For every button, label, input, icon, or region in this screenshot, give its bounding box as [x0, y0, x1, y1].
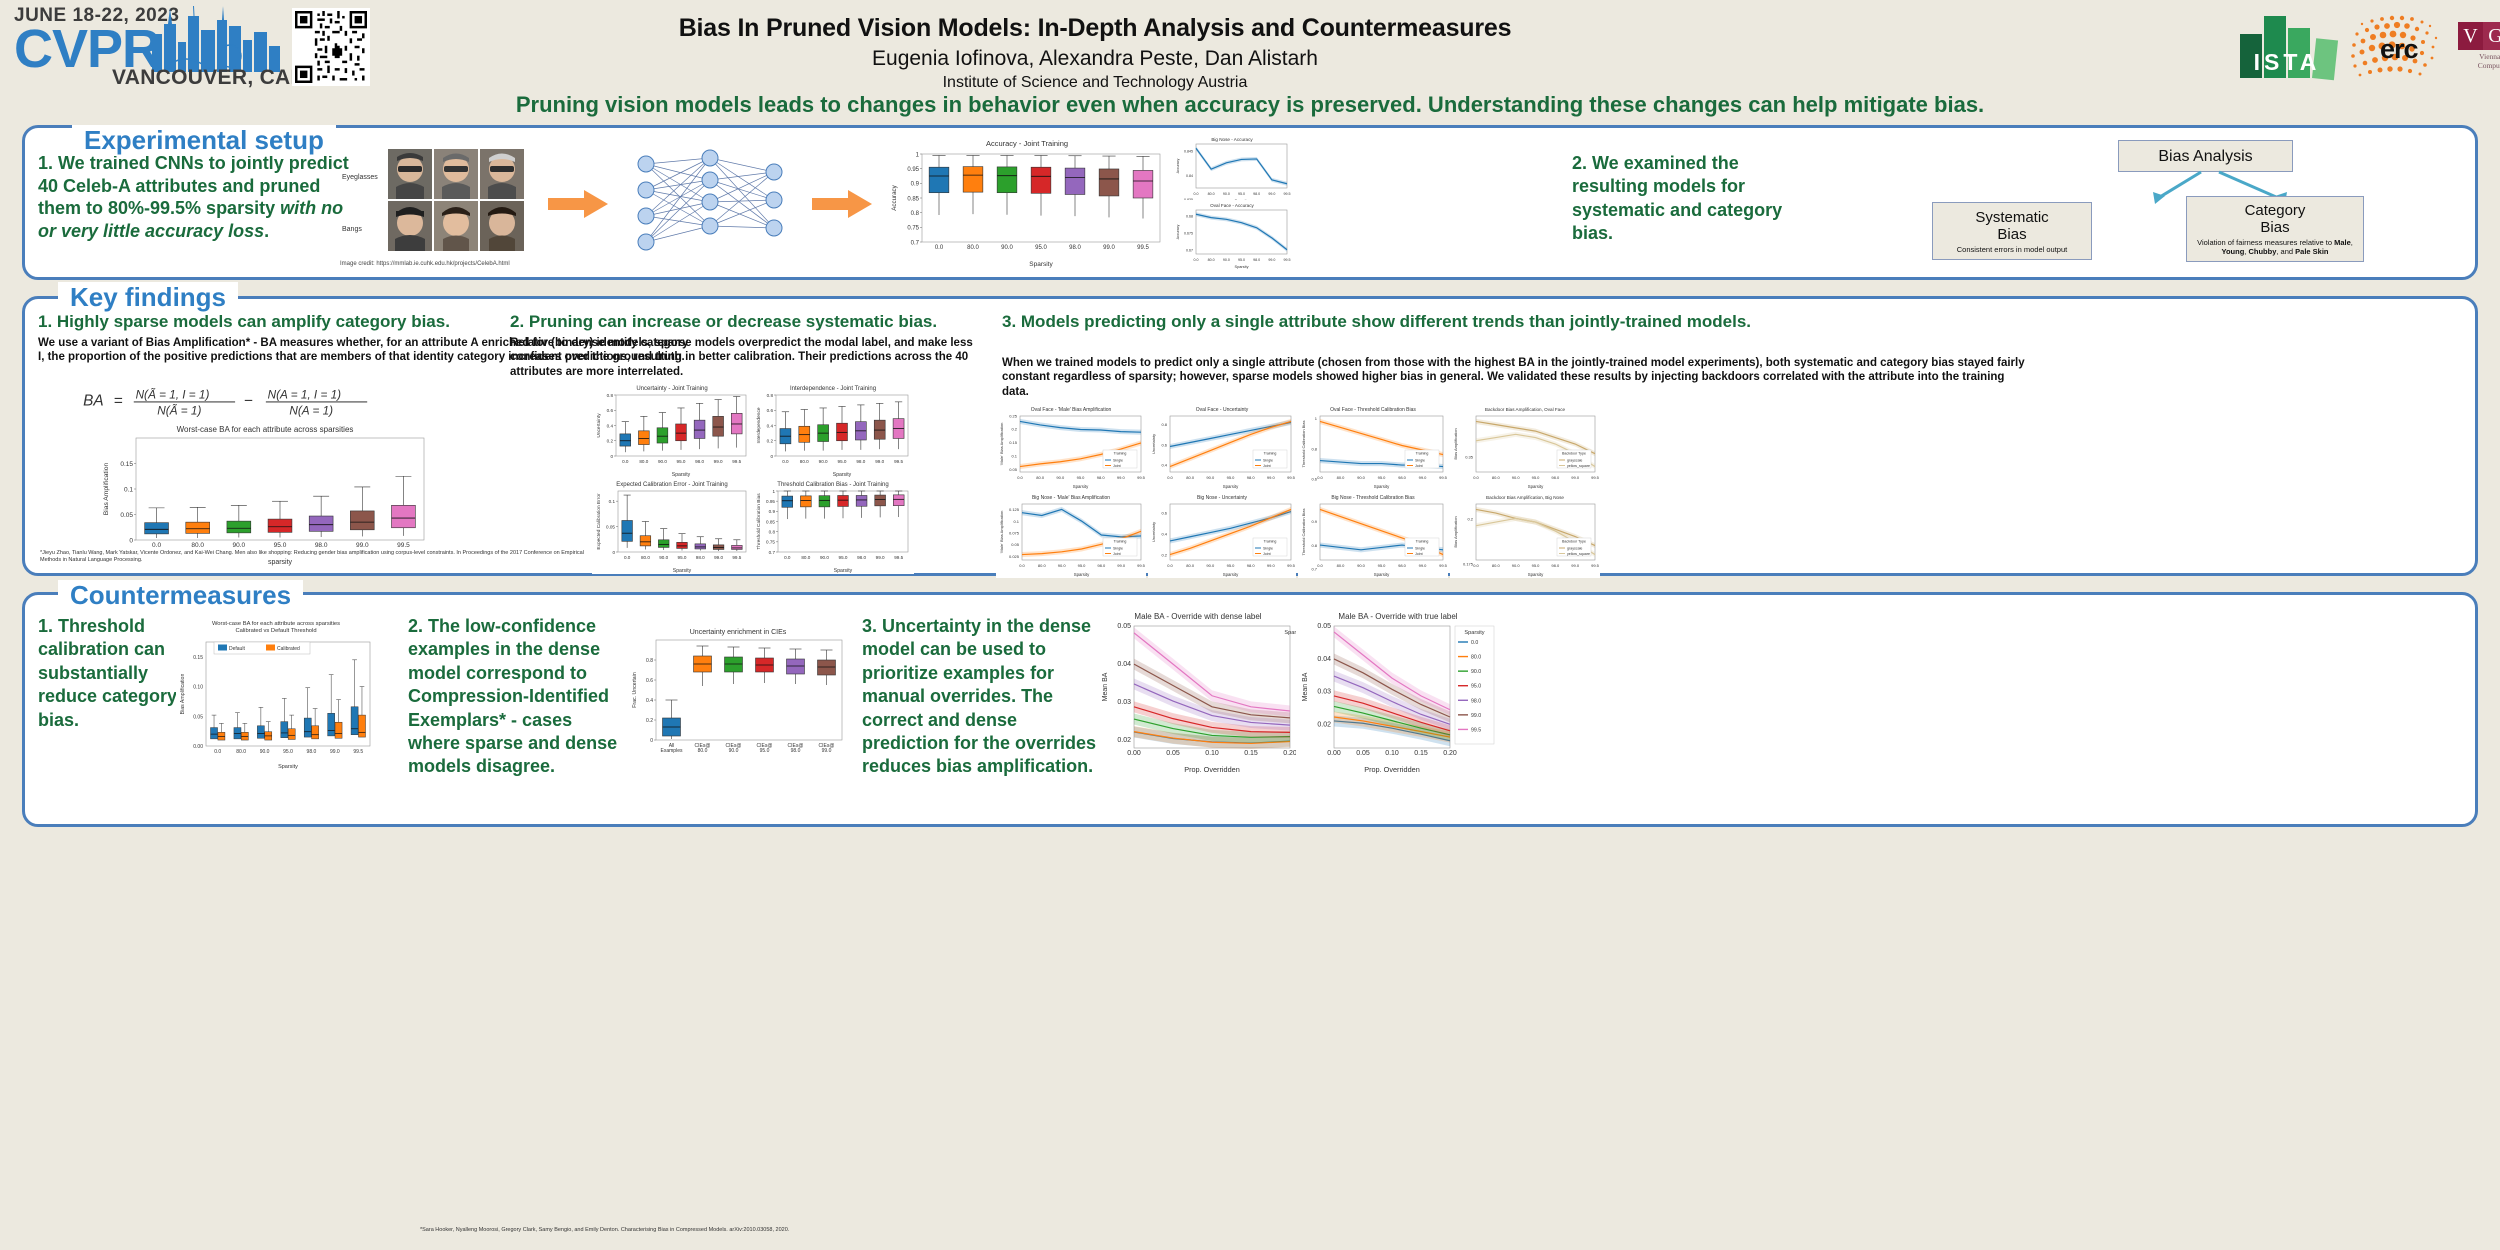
- svg-text:Backdoor Type: Backdoor Type: [1562, 452, 1586, 456]
- svg-text:99.5: 99.5: [1591, 475, 1600, 480]
- svg-text:95.0: 95.0: [1078, 563, 1087, 568]
- svg-text:0.15: 0.15: [193, 655, 203, 661]
- celeba-sample-images: Eyeglasses Bangs: [340, 145, 540, 260]
- qr-code[interactable]: [292, 8, 370, 86]
- svg-text:99.5: 99.5: [894, 555, 903, 560]
- svg-text:Male BA - Override with true l: Male BA - Override with true label: [1338, 612, 1457, 621]
- svg-text:0: 0: [650, 738, 653, 744]
- chart-tcb-joint: Threshold Calibration Bias - Joint Train…: [752, 478, 914, 574]
- svg-text:N(A = 1, I = 1): N(A = 1, I = 1): [268, 388, 341, 401]
- svg-text:0.0: 0.0: [214, 749, 221, 755]
- svg-text:0.6: 0.6: [767, 408, 774, 413]
- svg-text:Big Nose - Uncertainty: Big Nose - Uncertainty: [1197, 495, 1248, 501]
- svg-text:0.4: 0.4: [1161, 531, 1167, 536]
- svg-text:90.0: 90.0: [659, 555, 668, 560]
- title-block: Bias In Pruned Vision Models: In-Depth A…: [400, 14, 1790, 92]
- svg-text:95.0: 95.0: [274, 542, 287, 549]
- svg-text:98.0: 98.0: [1551, 563, 1560, 568]
- svg-text:99.0: 99.0: [1419, 563, 1428, 568]
- svg-text:80.0: 80.0: [639, 459, 648, 464]
- svg-text:Accuracy - Joint Training: Accuracy - Joint Training: [986, 139, 1068, 148]
- svg-text:0.125: 0.125: [1009, 507, 1020, 512]
- systematic-bias-sub: Consistent errors in model output: [1933, 245, 2091, 254]
- svg-text:Expected Calibration Error: Expected Calibration Error: [596, 493, 602, 550]
- svg-text:0.1: 0.1: [124, 487, 133, 494]
- cat-sub-male: Male: [2334, 238, 2351, 247]
- svg-text:Bias Amplification: Bias Amplification: [103, 463, 110, 516]
- svg-text:Sparsity: Sparsity: [278, 764, 298, 770]
- svg-text:0.6: 0.6: [1161, 510, 1167, 515]
- svg-text:90.0: 90.0: [819, 459, 828, 464]
- svg-text:98.0: 98.0: [1069, 245, 1081, 251]
- svg-text:99.5: 99.5: [1137, 475, 1146, 480]
- svg-text:0.675: 0.675: [1184, 232, 1193, 236]
- svg-text:0.7: 0.7: [769, 550, 776, 555]
- svg-text:99.0: 99.0: [356, 542, 369, 549]
- svg-text:0.8: 0.8: [1311, 543, 1317, 548]
- vancouver-skyline-icon: [150, 4, 282, 72]
- svg-text:80.0: 80.0: [191, 542, 204, 549]
- chart-bignose-uncertainty: Big Nose - Uncertainty0.20.40.60.080.090…: [1148, 492, 1296, 578]
- svg-text:Expected Calibration Error - J: Expected Calibration Error - Joint Train…: [616, 482, 727, 488]
- section-title-key-findings: Key findings: [58, 282, 238, 313]
- ista-label: ISTA: [2240, 49, 2334, 76]
- svg-text:Training: Training: [1264, 452, 1277, 456]
- svg-text:0.8: 0.8: [646, 658, 653, 664]
- finding-3-heading: 3. Models predicting only a single attri…: [1002, 312, 2022, 332]
- svg-text:Oval Face - Threshold Calibrat: Oval Face - Threshold Calibration Bias: [1330, 407, 1416, 413]
- svg-text:Sparsity: Sparsity: [1073, 484, 1089, 489]
- setup-item-1: 1. We trained CNNs to jointly predict 40…: [38, 152, 358, 242]
- svg-text:Backdoor Bias Amplification, B: Backdoor Bias Amplification, Big Nose: [1486, 495, 1564, 500]
- svg-text:Bias Amplification: Bias Amplification: [1453, 428, 1458, 459]
- svg-text:95.0: 95.0: [1077, 475, 1086, 480]
- svg-text:0.20: 0.20: [1443, 750, 1457, 757]
- finding-1-footnote: *Jieyu Zhao, Tianlu Wang, Mark Yatskar, …: [40, 550, 600, 564]
- svg-text:Accuracy: Accuracy: [891, 184, 898, 210]
- svg-text:95.0: 95.0: [283, 749, 293, 755]
- setup-item-1-period: .: [264, 221, 269, 241]
- svg-text:0.15: 0.15: [1414, 750, 1428, 757]
- svg-text:0.95: 0.95: [907, 167, 919, 173]
- svg-text:0.0: 0.0: [624, 555, 631, 560]
- svg-text:0.0: 0.0: [782, 459, 789, 464]
- svg-text:90.0: 90.0: [1206, 563, 1215, 568]
- svg-text:0.6: 0.6: [1161, 442, 1167, 447]
- finding-2-heading: 2. Pruning can increase or decrease syst…: [510, 312, 1010, 332]
- bias-analysis-label: Bias Analysis: [2119, 141, 2292, 173]
- svg-text:Sparsity: Sparsity: [1374, 572, 1390, 577]
- chart-ece-joint: Expected Calibration Error - Joint Train…: [592, 478, 752, 574]
- svg-text:Uncertainty: Uncertainty: [1151, 434, 1156, 454]
- svg-text:Single: Single: [1263, 459, 1273, 463]
- svg-text:0.67: 0.67: [1186, 249, 1193, 253]
- vgsco-logo: V G S C O Vienna Graduate School on Comp…: [2458, 22, 2500, 71]
- svg-text:Sparsity: Sparsity: [673, 568, 692, 574]
- svg-text:0.02: 0.02: [1317, 722, 1331, 729]
- svg-text:Interdependence - Joint Traini: Interdependence - Joint Training: [790, 386, 876, 392]
- svg-text:0.0: 0.0: [935, 245, 944, 251]
- erc-logo: erc: [2350, 14, 2460, 80]
- svg-text:0.05: 0.05: [120, 512, 133, 519]
- arrow-right-icon-2: [812, 190, 874, 220]
- svg-text:0.175: 0.175: [1463, 561, 1474, 566]
- svg-text:80.0: 80.0: [1208, 192, 1215, 196]
- svg-text:0.05: 0.05: [606, 524, 615, 529]
- svg-text:N(Ã = 1): N(Ã = 1): [157, 405, 201, 418]
- svg-text:90.0: 90.0: [1512, 563, 1521, 568]
- svg-text:98.0: 98.0: [1398, 563, 1407, 568]
- svg-text:Big Nose - 'Male' Bias Amplifi: Big Nose - 'Male' Bias Amplification: [1032, 495, 1110, 501]
- svg-text:Joint: Joint: [1415, 464, 1423, 468]
- chart-interdependence-joint: Interdependence - Joint Training00.20.40…: [752, 382, 914, 478]
- svg-text:Worst-case BA for each attribu: Worst-case BA for each attribute across …: [212, 621, 340, 627]
- svg-text:Sparsity: Sparsity: [1029, 261, 1053, 268]
- poster-header: JUNE 18-22, 2023 CVPR VANCOUVER, CANADA: [0, 0, 2500, 95]
- chart-ovalface-male-ba: Oval Face - 'Male' Bias Amplification0.0…: [996, 404, 1146, 490]
- chart-ovalface-tcb: Oval Face - Threshold Calibration Bias0.…: [1298, 404, 1448, 490]
- svg-text:0.02: 0.02: [1117, 737, 1131, 744]
- svg-text:1: 1: [916, 152, 920, 158]
- svg-text:0.025: 0.025: [1009, 554, 1020, 559]
- svg-text:90.0: 90.0: [820, 555, 829, 560]
- svg-text:N(A = 1): N(A = 1): [289, 405, 333, 418]
- svg-text:0.84: 0.84: [1186, 174, 1193, 178]
- svg-text:0.0: 0.0: [1317, 563, 1323, 568]
- svg-text:90.0: 90.0: [658, 459, 667, 464]
- finding-3-body: When we trained models to predict only a…: [1002, 356, 2032, 399]
- svg-text:99.5: 99.5: [1471, 727, 1481, 733]
- svg-text:99.5: 99.5: [1137, 245, 1149, 251]
- svg-text:0.8: 0.8: [1311, 446, 1317, 451]
- svg-text:Frac. Uncertain: Frac. Uncertain: [632, 672, 638, 708]
- svg-text:99.0: 99.0: [1419, 475, 1428, 480]
- svg-text:0.05: 0.05: [193, 714, 203, 720]
- svg-text:Sparsity: Sparsity: [1528, 572, 1544, 577]
- svg-text:90.0: 90.0: [1223, 192, 1230, 196]
- svg-text:95.0: 95.0: [1238, 192, 1245, 196]
- svg-text:Joint: Joint: [1263, 552, 1271, 556]
- svg-text:95.0: 95.0: [760, 748, 770, 754]
- authors: Eugenia Iofinova, Alexandra Peste, Dan A…: [400, 47, 1790, 71]
- svg-text:Single: Single: [1415, 459, 1425, 463]
- chart-bignose-accuracy: Big Nose - Accuracy0.8350.840.8450.080.0…: [1172, 134, 1292, 204]
- chart-bignose-tcb: Big Nose - Threshold Calibration Bias0.7…: [1298, 492, 1448, 578]
- svg-text:0.8: 0.8: [607, 393, 614, 398]
- svg-text:Prop. Overridden: Prop. Overridden: [1364, 765, 1420, 774]
- svg-text:Sparsity: Sparsity: [1374, 484, 1390, 489]
- svg-text:0.05: 0.05: [1009, 467, 1018, 472]
- svg-text:90.0: 90.0: [1001, 245, 1013, 251]
- svg-text:Uncertainty: Uncertainty: [1151, 522, 1156, 542]
- svg-text:Mean BA: Mean BA: [1302, 672, 1309, 701]
- category-bias-title2: Bias: [2187, 219, 2363, 236]
- svg-text:0.0: 0.0: [1473, 475, 1479, 480]
- svg-text:0.0: 0.0: [1017, 475, 1023, 480]
- affiliation: Institute of Science and Technology Aust…: [400, 74, 1790, 92]
- svg-text:98.0: 98.0: [1097, 563, 1106, 568]
- svg-text:95.0: 95.0: [1227, 563, 1236, 568]
- svg-text:0.75: 0.75: [907, 226, 919, 232]
- svg-text:0.00: 0.00: [1327, 750, 1341, 757]
- face-row-label-eyeglasses: Eyeglasses: [342, 174, 378, 181]
- svg-text:99.0: 99.0: [1103, 245, 1115, 251]
- svg-text:0.0: 0.0: [1194, 192, 1199, 196]
- svg-text:98.0: 98.0: [1471, 698, 1481, 704]
- svg-text:90.0: 90.0: [1058, 563, 1067, 568]
- svg-text:80.0: 80.0: [801, 555, 810, 560]
- svg-text:Uncertainty: Uncertainty: [596, 413, 602, 438]
- svg-text:yellow_square: yellow_square: [1567, 464, 1590, 468]
- systematic-bias-title2: Bias: [1933, 226, 2091, 243]
- svg-text:0.10: 0.10: [193, 685, 203, 691]
- svg-text:0.8: 0.8: [911, 211, 920, 217]
- svg-text:0.03: 0.03: [1317, 689, 1331, 696]
- svg-text:98.0: 98.0: [695, 459, 704, 464]
- svg-text:98.0: 98.0: [1253, 258, 1260, 262]
- svg-text:Threshold Calibration Bias: Threshold Calibration Bias: [1301, 509, 1306, 556]
- svg-text:Accuracy: Accuracy: [1176, 224, 1180, 239]
- svg-text:0.075: 0.075: [1009, 530, 1020, 535]
- svg-text:Joint: Joint: [1415, 552, 1423, 556]
- svg-text:0.0: 0.0: [1167, 475, 1173, 480]
- svg-text:0.0: 0.0: [1471, 640, 1478, 646]
- svg-text:98.0: 98.0: [1398, 475, 1407, 480]
- svg-text:98.0: 98.0: [315, 542, 328, 549]
- svg-text:80.0: 80.0: [1186, 563, 1195, 568]
- setup-item-2: 2. We examined the resulting models for …: [1572, 152, 1802, 246]
- svg-text:99.5: 99.5: [1284, 192, 1291, 196]
- svg-text:99.5: 99.5: [894, 459, 903, 464]
- svg-text:BA: BA: [83, 393, 104, 410]
- svg-text:Threshold Calibration Bias: Threshold Calibration Bias: [756, 493, 762, 550]
- svg-text:0.05: 0.05: [1356, 750, 1370, 757]
- svg-text:90.0: 90.0: [1357, 475, 1366, 480]
- svg-text:99.5: 99.5: [1287, 475, 1296, 480]
- svg-text:Bias Amplification: Bias Amplification: [1453, 516, 1458, 547]
- svg-text:0.0: 0.0: [1167, 563, 1173, 568]
- svg-text:99.5: 99.5: [1287, 563, 1296, 568]
- svg-text:0.0: 0.0: [1317, 475, 1323, 480]
- svg-text:98.0: 98.0: [1551, 475, 1560, 480]
- svg-text:99.5: 99.5: [353, 749, 363, 755]
- svg-text:0: 0: [129, 538, 133, 545]
- svg-text:0.9: 0.9: [769, 509, 776, 514]
- svg-text:95.0: 95.0: [839, 555, 848, 560]
- svg-text:80.0: 80.0: [1337, 475, 1346, 480]
- svg-text:99.0: 99.0: [1267, 563, 1276, 568]
- svg-text:99.5: 99.5: [1284, 258, 1291, 262]
- chart-calibrated-vs-default: Worst-case BA for each attribute across …: [176, 618, 376, 770]
- chart-accuracy-joint-training: Accuracy - Joint Training0.70.750.80.850…: [888, 138, 1166, 268]
- svg-text:0.4: 0.4: [767, 423, 774, 428]
- svg-text:Training: Training: [1416, 452, 1429, 456]
- svg-text:80.0: 80.0: [1337, 563, 1346, 568]
- svg-text:90.0: 90.0: [1357, 563, 1366, 568]
- svg-text:1: 1: [772, 489, 775, 494]
- svg-text:0.04: 0.04: [1317, 656, 1331, 663]
- systematic-bias-title: Systematic: [1933, 209, 2091, 226]
- svg-text:'Male' Bias Amplification: 'Male' Bias Amplification: [999, 511, 1004, 554]
- cat-sub-young: Young: [2222, 247, 2245, 256]
- svg-text:0.20: 0.20: [1283, 750, 1296, 757]
- svg-text:90.0: 90.0: [260, 749, 270, 755]
- section-title-countermeasures: Countermeasures: [58, 580, 303, 611]
- svg-text:99.5: 99.5: [1137, 563, 1146, 568]
- svg-text:80.0: 80.0: [1036, 475, 1045, 480]
- svg-text:0.7: 0.7: [911, 240, 920, 246]
- svg-text:0.2: 0.2: [1011, 427, 1017, 432]
- svg-text:Joint: Joint: [1113, 552, 1121, 556]
- svg-text:0.03: 0.03: [1117, 699, 1131, 706]
- svg-text:98.0: 98.0: [857, 555, 866, 560]
- erc-label: erc: [2380, 34, 2418, 65]
- svg-text:90.0: 90.0: [1223, 258, 1230, 262]
- svg-text:80.0: 80.0: [1038, 563, 1047, 568]
- svg-text:99.0: 99.0: [1268, 258, 1275, 262]
- svg-text:0.0: 0.0: [784, 555, 791, 560]
- svg-text:0.0: 0.0: [1194, 258, 1199, 262]
- section-title-setup: Experimental setup: [72, 125, 336, 156]
- cat-sub-pre: Violation of fairness measures relative …: [2197, 238, 2334, 247]
- svg-text:0.85: 0.85: [907, 196, 919, 202]
- svg-text:Oval Face - 'Male' Bias Amplif: Oval Face - 'Male' Bias Amplification: [1031, 407, 1112, 413]
- svg-text:Examples: Examples: [661, 748, 683, 754]
- svg-text:90.0: 90.0: [1206, 475, 1215, 480]
- svg-text:80.0: 80.0: [1208, 258, 1215, 262]
- svg-text:0.0: 0.0: [622, 459, 629, 464]
- svg-text:0.8: 0.8: [767, 393, 774, 398]
- svg-text:90.0: 90.0: [1056, 475, 1065, 480]
- svg-text:Backdoor Type: Backdoor Type: [1562, 540, 1586, 544]
- svg-text:0.4: 0.4: [607, 423, 614, 428]
- svg-text:Threshold Calibration Bias - J: Threshold Calibration Bias - Joint Train…: [777, 482, 888, 488]
- svg-text:Oval Face - Accuracy: Oval Face - Accuracy: [1210, 203, 1254, 208]
- svg-text:0.9: 0.9: [1311, 519, 1317, 524]
- chart-ovalface-accuracy: Oval Face - Accuracy0.670.6750.680.080.0…: [1172, 200, 1292, 270]
- svg-text:Single: Single: [1113, 547, 1123, 551]
- svg-text:0.4: 0.4: [646, 698, 653, 704]
- svg-text:Bias Amplification: Bias Amplification: [180, 674, 186, 715]
- svg-text:95.0: 95.0: [838, 459, 847, 464]
- svg-text:99.5: 99.5: [1439, 475, 1448, 480]
- cat-sub-paleskin: Pale Skin: [2295, 247, 2328, 256]
- svg-text:90.0: 90.0: [1512, 475, 1521, 480]
- svg-text:80.0: 80.0: [1492, 475, 1501, 480]
- svg-text:99.0: 99.0: [1267, 475, 1276, 480]
- svg-text:0: 0: [610, 454, 613, 459]
- bias-amplification-formula: BA = N(Ã = 1, I = 1) N(Ã = 1) − N(A = 1,…: [65, 382, 445, 420]
- svg-text:Interdependence: Interdependence: [756, 407, 762, 443]
- svg-text:99.5: 99.5: [397, 542, 410, 549]
- diagram-node-bias-analysis: Bias Analysis: [2118, 140, 2293, 172]
- vgsco-letter-v: V: [2458, 22, 2483, 50]
- svg-text:0.0: 0.0: [1473, 563, 1479, 568]
- vgsco-letters: V G S C O: [2458, 22, 2500, 50]
- svg-text:0.95: 0.95: [766, 499, 775, 504]
- svg-text:95.0: 95.0: [1532, 563, 1541, 568]
- svg-text:0.35: 0.35: [1465, 455, 1474, 460]
- svg-text:0.8: 0.8: [1161, 422, 1167, 427]
- svg-text:0.0: 0.0: [152, 542, 161, 549]
- chart-worst-case-ba: Worst-case BA for each attribute across …: [100, 424, 430, 566]
- svg-text:99.0: 99.0: [1117, 563, 1126, 568]
- svg-text:=: =: [114, 393, 123, 410]
- svg-text:98.0: 98.0: [856, 459, 865, 464]
- svg-text:Prop. Overridden: Prop. Overridden: [1184, 765, 1240, 774]
- svg-text:grayscale: grayscale: [1567, 459, 1582, 463]
- svg-text:0.68: 0.68: [1186, 215, 1193, 219]
- image-credit: Image credit: https://mmlab.ie.cuhk.edu.…: [340, 261, 510, 267]
- svg-text:Threshold Calibration Bias: Threshold Calibration Bias: [1301, 421, 1306, 468]
- svg-text:0: 0: [770, 454, 773, 459]
- svg-text:98.0: 98.0: [1253, 192, 1260, 196]
- svg-text:99.0: 99.0: [1117, 475, 1126, 480]
- face-row-label-bangs: Bangs: [342, 226, 362, 233]
- svg-text:0.10: 0.10: [1205, 750, 1219, 757]
- svg-text:0.15: 0.15: [120, 461, 133, 468]
- svg-text:99.0: 99.0: [875, 459, 884, 464]
- chart-uncertainty-joint: Uncertainty - Joint Training00.20.40.60.…: [592, 382, 752, 478]
- svg-text:99.5: 99.5: [732, 555, 741, 560]
- svg-text:95.0: 95.0: [1238, 258, 1245, 262]
- svg-text:90.0: 90.0: [1471, 669, 1481, 675]
- svg-text:Big Nose - Accuracy: Big Nose - Accuracy: [1211, 137, 1253, 142]
- svg-text:99.0: 99.0: [1571, 563, 1580, 568]
- svg-text:90.0: 90.0: [233, 542, 246, 549]
- svg-text:0.2: 0.2: [1467, 516, 1473, 521]
- svg-text:Single: Single: [1263, 547, 1273, 551]
- svg-text:0.2: 0.2: [767, 439, 774, 444]
- svg-text:95.0: 95.0: [1532, 475, 1541, 480]
- chart-bignose-male-ba: Big Nose - 'Male' Bias Amplification0.02…: [996, 492, 1146, 578]
- svg-text:Oval Face - Uncertainty: Oval Face - Uncertainty: [1196, 407, 1249, 413]
- svg-text:0: 0: [612, 550, 615, 555]
- svg-text:80.0: 80.0: [967, 245, 979, 251]
- svg-text:0.25: 0.25: [1009, 413, 1018, 418]
- svg-text:Sparsity: Sparsity: [1234, 264, 1248, 269]
- svg-text:0.845: 0.845: [1184, 149, 1193, 153]
- svg-text:0.05: 0.05: [1317, 623, 1331, 630]
- cat-sub-and: , and: [2276, 247, 2295, 256]
- chart-uncertainty-cies: Uncertainty enrichment in CIEs00.20.40.6…: [628, 626, 848, 766]
- svg-text:99.5: 99.5: [1591, 563, 1600, 568]
- svg-text:Training: Training: [1114, 540, 1127, 544]
- svg-text:0.1: 0.1: [1011, 454, 1017, 459]
- svg-text:Training: Training: [1264, 540, 1277, 544]
- svg-text:Sparsity: Sparsity: [1223, 484, 1239, 489]
- svg-text:Sparsity: Sparsity: [1464, 630, 1484, 636]
- svg-text:80.0: 80.0: [1492, 563, 1501, 568]
- svg-text:0.04: 0.04: [1117, 661, 1131, 668]
- chart-male-ba-dense-override: Male BA - Override with dense label0.020…: [1100, 612, 1296, 774]
- svg-text:0.8: 0.8: [769, 529, 776, 534]
- svg-text:95.0: 95.0: [677, 459, 686, 464]
- svg-text:'Male' Bias Amplification: 'Male' Bias Amplification: [999, 423, 1004, 466]
- svg-text:0.4: 0.4: [1161, 462, 1167, 467]
- poster-tagline: Pruning vision models leads to changes i…: [0, 92, 2500, 118]
- svg-text:Big Nose - Threshold Calibrati: Big Nose - Threshold Calibration Bias: [1331, 495, 1415, 501]
- svg-text:0.2: 0.2: [646, 718, 653, 724]
- svg-text:0.05: 0.05: [1011, 542, 1020, 547]
- diagram-node-category-bias: Category Bias Violation of fairness meas…: [2186, 196, 2364, 262]
- svg-text:0.6: 0.6: [646, 678, 653, 684]
- svg-text:0.05: 0.05: [1117, 623, 1131, 630]
- arrow-right-icon-1: [548, 190, 610, 220]
- chart-ovalface-uncertainty: Oval Face - Uncertainty0.40.60.80.080.09…: [1148, 404, 1296, 490]
- svg-text:99.5: 99.5: [732, 459, 741, 464]
- svg-text:Sparsity: Sparsity: [1223, 572, 1239, 577]
